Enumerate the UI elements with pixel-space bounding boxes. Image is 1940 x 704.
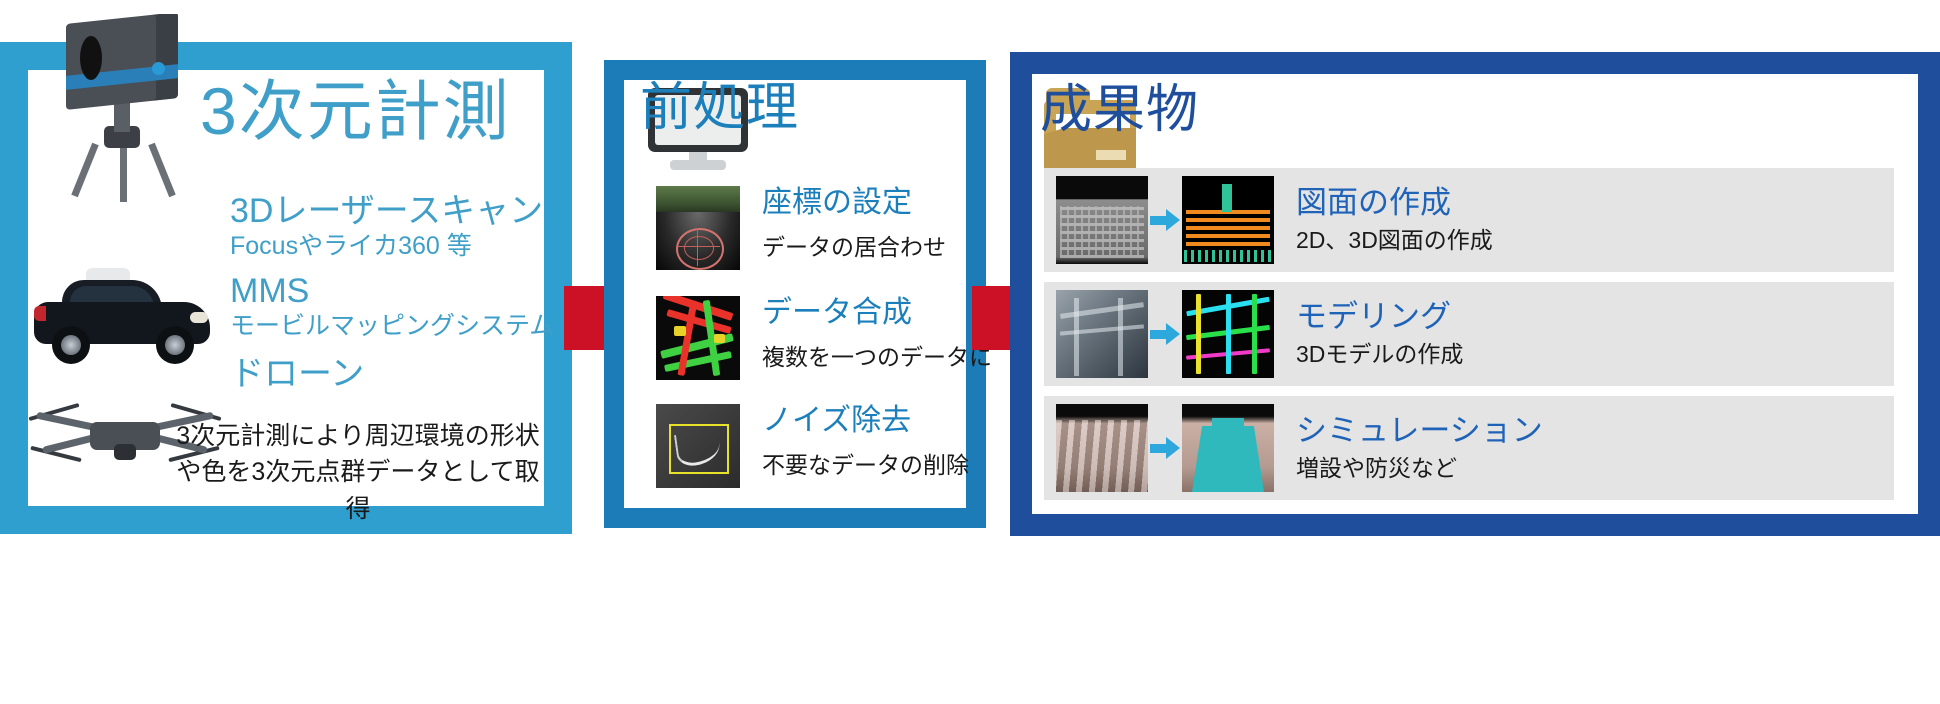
car-wheel-front [156, 326, 194, 364]
laser-scanner-photo [40, 14, 220, 204]
folder-label [1096, 150, 1126, 160]
noise-selection-box-thumb [656, 404, 740, 488]
drone-arm-1 [36, 412, 98, 432]
measurement-caption-line1: 3次元計測により周辺環境の形状 [168, 418, 548, 454]
panel-deliverables-title-text: 成果物 [1040, 84, 1199, 136]
preprocessing-item-merge-head: データ合成 [762, 296, 992, 329]
transform-arrow-icon [1150, 323, 1180, 345]
point-cloud-road-target-thumb [656, 186, 740, 270]
image-cad-tower [1222, 184, 1232, 212]
deliverable-item-modeling-sub: 3Dモデルの作成 [1296, 342, 1463, 367]
monitor-base [670, 160, 726, 170]
deliverable-item-simulation-head: シミュレーション [1296, 414, 1543, 448]
tripod-leg-right [148, 143, 175, 198]
preprocessing-item-coordinate: 座標の設定 データの居合わせ [656, 186, 946, 270]
panel-preprocessing-title: 前処理 [640, 82, 799, 134]
panel-preprocessing-title-text: 前処理 [640, 82, 799, 134]
deliverable-simulation-images [1056, 404, 1274, 492]
diagram-canvas: 3次元計測 3Dレーザースキャン Focusやライカ360 等 MMS モービル… [0, 0, 1940, 704]
panel-measurement-title-text: 3次元計測 [200, 78, 511, 144]
measurement-item-mms-head: MMS [230, 272, 554, 311]
deliverable-item-modeling-head: モデリング [1296, 300, 1463, 334]
measurement-item-laser-scan: 3Dレーザースキャン Focusやライカ360 等 [230, 192, 543, 261]
preprocessing-item-merge: データ合成 複数を一つのデータに [656, 296, 992, 380]
pointcloud-building-bw-image [1056, 176, 1148, 264]
preprocessing-item-denoise-head: ノイズ除去 [762, 404, 969, 437]
deliverable-item-simulation-sub: 増設や防災など [1296, 456, 1543, 481]
cad-drawing-building-image [1182, 176, 1274, 264]
flood-simulation-tunnel-image [1182, 404, 1274, 492]
tripod-leg-left [71, 143, 98, 198]
drone-camera [114, 444, 136, 460]
merged-colored-pipes-thumb [656, 296, 740, 380]
deliverable-modeling-images [1056, 290, 1274, 378]
deliverable-item-simulation: シミュレーション 増設や防災など [1044, 396, 1894, 500]
car-taillight [34, 306, 46, 321]
car-wheel-rear [52, 326, 90, 364]
mms-vehicle-photo [30, 268, 216, 368]
car-headlight [190, 312, 208, 323]
deliverable-item-drawing: 図面の作成 2D、3D図面の作成 [1044, 168, 1894, 272]
image-model-column [1196, 294, 1201, 374]
deliverable-item-drawing-text: 図面の作成 2D、3D図面の作成 [1296, 186, 1493, 253]
image-cad-base [1184, 250, 1272, 262]
image-model-column [1226, 294, 1231, 374]
thumb-target-crosshair-h [676, 246, 720, 247]
deliverable-item-modeling-text: モデリング 3Dモデルの作成 [1296, 300, 1463, 367]
preprocessing-item-coordinate-head: 座標の設定 [762, 186, 946, 219]
deliverable-item-modeling: モデリング 3Dモデルの作成 [1044, 282, 1894, 386]
image-cad-facade [1186, 210, 1270, 254]
image-building-windows [1060, 206, 1144, 258]
measurement-item-laser-scan-head: 3Dレーザースキャン [230, 192, 543, 231]
image-tunnel-texture [1056, 420, 1148, 492]
transform-arrow-icon [1150, 437, 1180, 459]
scanner-button [152, 62, 165, 75]
image-sim-water [1192, 426, 1264, 492]
thumb-target-crosshair-v [697, 228, 698, 266]
measurement-caption: 3次元計測により周辺環境の形状 や色を3次元点群データとして取得 [168, 418, 548, 527]
deliverable-item-drawing-head: 図面の作成 [1296, 186, 1493, 220]
preprocessing-item-merge-sub: 複数を一つのデータに [762, 345, 992, 370]
measurement-item-drone-head: ドローン [230, 355, 364, 394]
preprocessing-item-denoise: ノイズ除去 不要なデータの削除 [656, 404, 969, 488]
thumb-target-ring-inner [684, 236, 714, 260]
tripod-leg-center [120, 144, 127, 202]
measurement-item-laser-scan-sub: Focusやライカ360 等 [230, 231, 543, 261]
measurement-item-mms-sub: モービルマッピングシステム [230, 311, 554, 341]
preprocessing-item-merge-text: データ合成 複数を一つのデータに [762, 296, 992, 370]
image-pipe-column [1118, 298, 1123, 376]
transform-arrow-icon [1150, 209, 1180, 231]
measurement-caption-line2: や色を3次元点群データとして取得 [168, 454, 548, 527]
panel-measurement-title: 3次元計測 [200, 78, 511, 144]
scanner-lens [80, 36, 102, 80]
image-model-column [1252, 294, 1257, 374]
deliverable-item-drawing-sub: 2D、3D図面の作成 [1296, 228, 1493, 253]
thumb-highlight [674, 326, 686, 336]
deliverable-drawing-images [1056, 176, 1274, 264]
preprocessing-item-coordinate-sub: データの居合わせ [762, 235, 946, 260]
preprocessing-item-coordinate-text: 座標の設定 データの居合わせ [762, 186, 946, 260]
photo-pipe-rack-image [1056, 290, 1148, 378]
panel-deliverables-title: 成果物 [1040, 84, 1199, 136]
measurement-item-mms: MMS モービルマッピングシステム [230, 272, 554, 341]
preprocessing-item-denoise-text: ノイズ除去 不要なデータの削除 [762, 404, 969, 478]
image-pipe-column [1074, 298, 1079, 376]
deliverable-item-simulation-text: シミュレーション 増設や防災など [1296, 414, 1543, 481]
tripod-neck [114, 102, 130, 132]
model-pipes-image [1182, 290, 1274, 378]
pointcloud-tunnel-image [1056, 404, 1148, 492]
measurement-item-drone: ドローン [230, 355, 364, 394]
thumb-highlight [714, 334, 725, 343]
preprocessing-item-denoise-sub: 不要なデータの削除 [762, 453, 969, 478]
